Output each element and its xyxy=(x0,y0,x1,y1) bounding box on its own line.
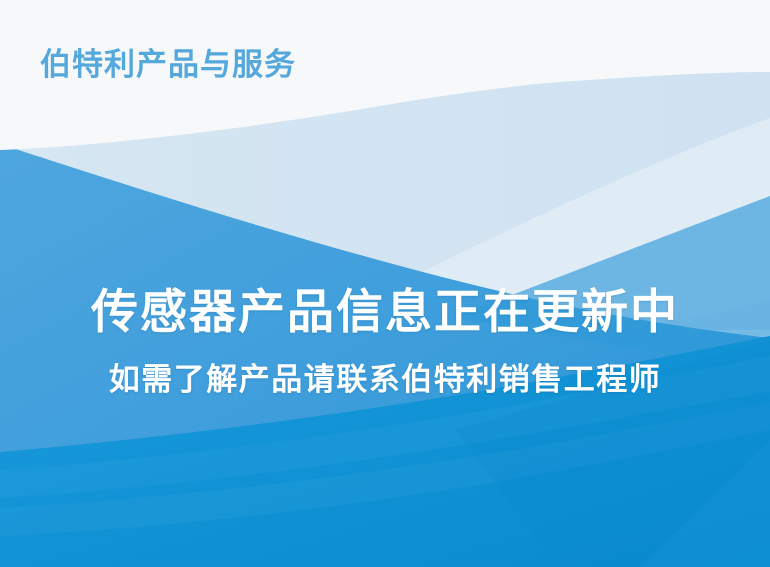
poster-canvas: 伯特利产品与服务 传感器产品信息正在更新中 如需了解产品请联系伯特利销售工程师 xyxy=(0,0,770,567)
headline-block: 传感器产品信息正在更新中 如需了解产品请联系伯特利销售工程师 xyxy=(0,286,770,398)
page-title: 伯特利产品与服务 xyxy=(40,46,296,83)
headline-primary: 传感器产品信息正在更新中 xyxy=(0,286,770,339)
background-wave-graphic xyxy=(0,0,770,567)
headline-secondary: 如需了解产品请联系伯特利销售工程师 xyxy=(0,361,770,398)
